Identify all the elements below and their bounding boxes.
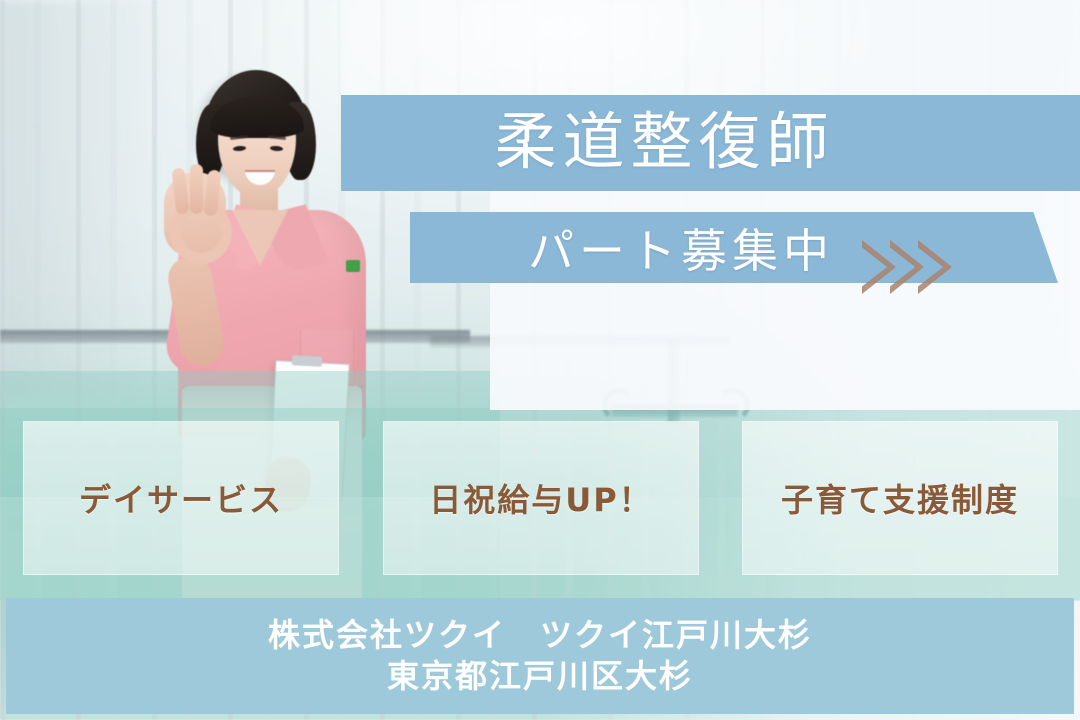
- green-badge-right: [346, 260, 360, 272]
- feature-box-day-service: デイサービス: [23, 421, 339, 575]
- recruiting-text: パート募集中: [528, 215, 834, 281]
- company-name-line: 株式会社ツクイ ツクイ江戸川大杉: [268, 615, 812, 656]
- clipboard-clip: [292, 355, 322, 367]
- company-footer: 株式会社ツクイ ツクイ江戸川大杉 東京都江戸川区大杉: [6, 598, 1074, 714]
- feature-box-holiday-pay: 日祝給与UP！: [383, 421, 699, 575]
- finger-2: [190, 164, 203, 214]
- v-neckline: [232, 210, 288, 266]
- recruitment-poster: 柔道整復師 パート募集中 デイサービス 日祝給与UP！ 子育て支援制度 株式会社…: [0, 0, 1080, 720]
- feature-label-2: 日祝給与UP！: [429, 475, 652, 521]
- triple-chevron-right-icon: [862, 240, 982, 296]
- feature-label-1: デイサービス: [79, 475, 283, 521]
- job-title-band: 柔道整復師: [341, 95, 1080, 191]
- feature-label-3: 子育て支援制度: [781, 475, 1019, 521]
- feature-box-childcare-support: 子育て支援制度: [742, 421, 1058, 575]
- job-title-text: 柔道整復師: [494, 112, 926, 174]
- company-address-line: 東京都江戸川区大杉: [387, 656, 693, 697]
- white-panel-top: [341, 0, 1080, 96]
